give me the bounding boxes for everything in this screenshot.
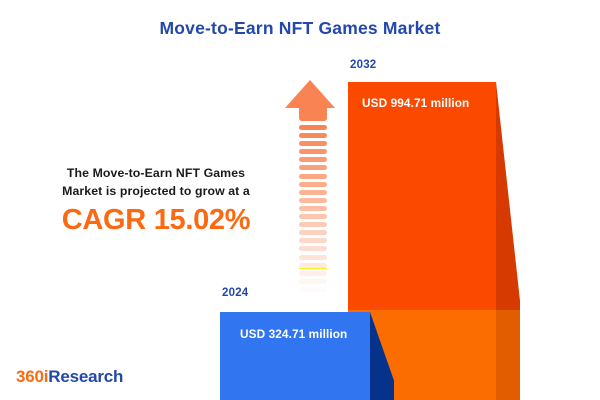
cagr-value: CAGR 15.02%	[22, 205, 290, 235]
cagr-lead-line-1: The Move-to-Earn NFT Games	[22, 165, 290, 183]
arrow-stripe	[299, 263, 327, 268]
arrow-stripe	[299, 198, 327, 203]
arrow-stripe	[299, 165, 327, 170]
bar-2024-value-label: USD 324.71 million	[240, 327, 347, 341]
arrow-stripe	[299, 230, 327, 235]
growth-arrow-icon	[285, 80, 341, 292]
arrow-highlight-line	[299, 268, 327, 269]
arrow-stripe	[299, 125, 327, 130]
brand-logo: 360iResearch	[16, 367, 123, 387]
arrow-neck	[299, 107, 327, 121]
logo-research: Research	[48, 367, 123, 386]
logo-360i: 360i	[16, 367, 48, 386]
arrow-stripe	[299, 287, 327, 292]
bar-2032-side-upper	[496, 82, 520, 310]
arrow-stripe	[299, 149, 327, 154]
page-title: Move-to-Earn NFT Games Market	[0, 18, 600, 39]
bar-2032-side-lower	[496, 310, 520, 400]
arrow-stripe	[299, 174, 327, 179]
arrow-stripe	[299, 222, 327, 227]
arrow-stripe	[299, 246, 327, 251]
cagr-lead-line-2: Market is projected to grow at a	[22, 183, 290, 201]
arrow-stripe	[299, 133, 327, 138]
arrow-stripe	[299, 214, 327, 219]
arrow-head-icon	[285, 80, 335, 108]
arrow-stripe	[299, 190, 327, 195]
bar-2024-year-label: 2024	[222, 287, 248, 299]
cagr-callout: The Move-to-Earn NFT Games Market is pro…	[22, 165, 290, 235]
bar-2032-value-label: USD 994.71 million	[362, 96, 469, 110]
arrow-stripe	[299, 141, 327, 146]
bar-2024-front	[220, 312, 370, 400]
infographic-canvas: Move-to-Earn NFT Games Market The Move-t…	[0, 0, 600, 400]
arrow-stripe	[299, 238, 327, 243]
bar-2032-year-label: 2032	[350, 59, 376, 71]
arrow-shaft-stripes	[299, 125, 327, 291]
arrow-stripe	[299, 271, 327, 276]
arrow-stripe	[299, 157, 327, 162]
arrow-stripe	[299, 182, 327, 187]
arrow-stripe	[299, 279, 327, 284]
arrow-stripe	[299, 206, 327, 211]
arrow-stripe	[299, 255, 327, 260]
